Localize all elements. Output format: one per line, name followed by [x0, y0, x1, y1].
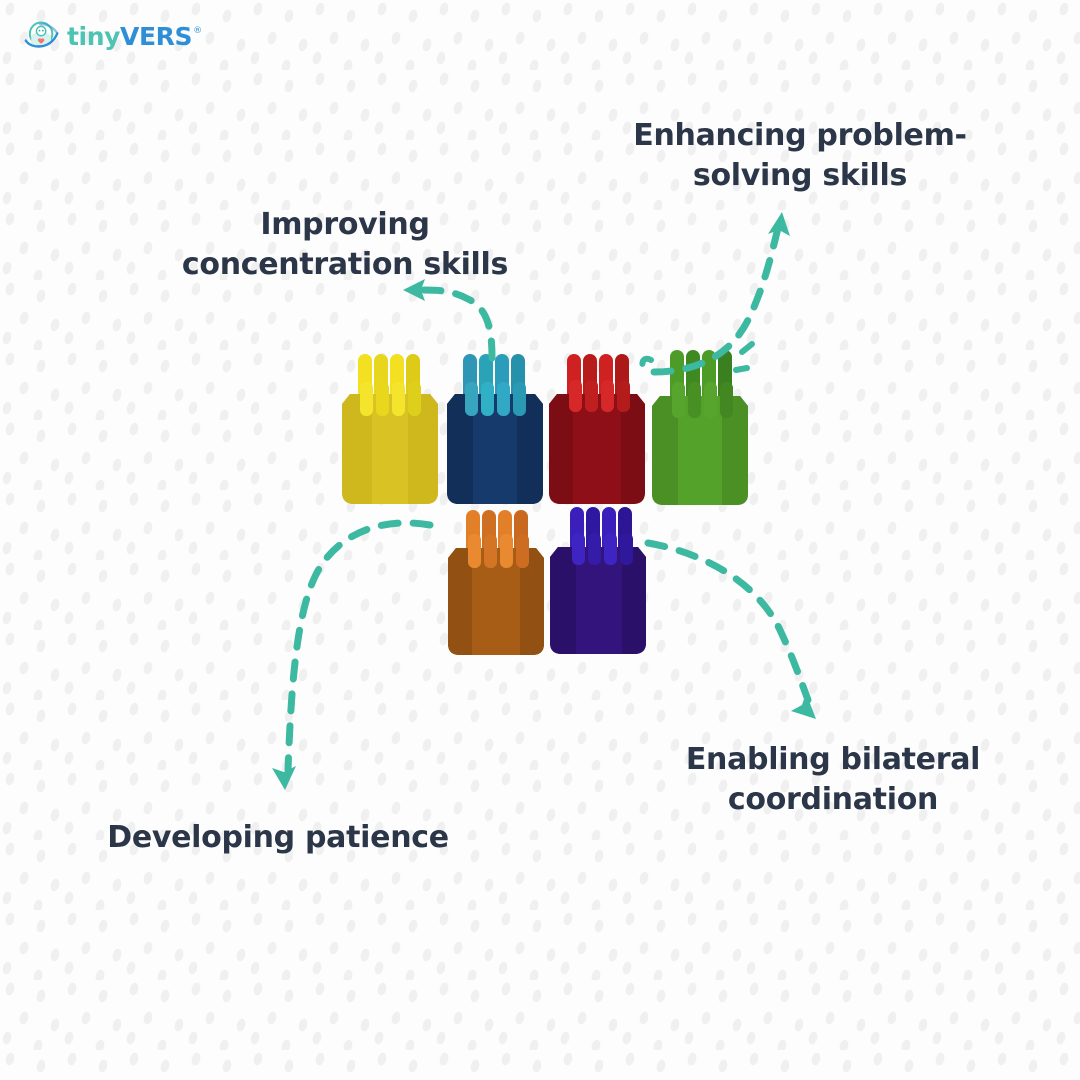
pouch-brown: [444, 508, 548, 658]
callout-concentration: Improving concentration skills: [170, 205, 520, 284]
callout-line-2: coordination: [668, 780, 998, 820]
callout-problem-solving: Enhancing problem- solving skills: [600, 116, 1000, 195]
poster-canvas: tinyVERS®: [0, 0, 1080, 1080]
pouch-yellow: [338, 352, 442, 508]
pouch-navy: [443, 352, 547, 508]
callout-bilateral: Enabling bilateral coordination: [668, 740, 998, 819]
callout-line-1: Developing patience: [88, 818, 468, 858]
callout-line-1: Enhancing problem-: [600, 116, 1000, 156]
callout-line-1: Improving: [170, 205, 520, 245]
callout-line-2: concentration skills: [170, 245, 520, 285]
callout-line-2: solving skills: [600, 156, 1000, 196]
pouch-red: [545, 352, 649, 508]
pouch-green: [648, 348, 752, 508]
callout-line-1: Enabling bilateral: [668, 740, 998, 780]
pouch-purple: [546, 505, 650, 657]
callout-patience: Developing patience: [88, 818, 468, 858]
